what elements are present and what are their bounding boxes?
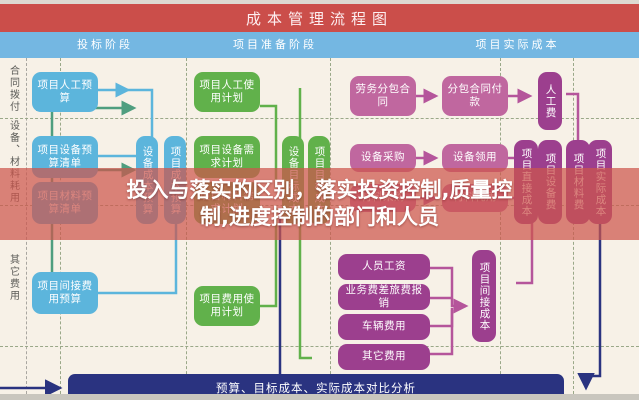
phase-header-bidding: 投标阶段 (30, 32, 180, 58)
bottom-edge-strip (0, 394, 639, 400)
node-plan-expense[interactable]: 项目费用使用计划 (194, 286, 260, 326)
phase-header-preparation: 项目准备阶段 (190, 32, 360, 58)
node-labor-subcontract[interactable]: 劳务分包合同 (350, 76, 416, 116)
node-subcontract-payment[interactable]: 分包合同付款 (442, 76, 508, 116)
node-budget-labor[interactable]: 项目人工预算 (32, 72, 98, 112)
page-title: 成本管理流程图 (0, 4, 639, 32)
overlay-caption: 投入与落实的区别，落实投资控制,质量控 制,进度控制的部门和人员 (20, 177, 620, 232)
node-other-expense[interactable]: 其它费用 (338, 344, 430, 370)
node-travel-expense[interactable]: 业务费差旅费报销 (338, 284, 430, 310)
phase-header-actual-cost: 项目实际成本 (430, 32, 605, 58)
overlay-line-2: 制,进度控制的部门和人员 (200, 205, 439, 229)
flowchart-page: 成本管理流程图 投标阶段 项目准备阶段 项目实际成本 合同拨付 设备、材料耗用 … (0, 0, 639, 400)
phase-header-bar: 投标阶段 项目准备阶段 项目实际成本 (0, 32, 639, 58)
node-budget-indirect[interactable]: 项目间接费用预算 (32, 272, 98, 314)
node-plan-labor[interactable]: 项目人工使用计划 (194, 72, 260, 112)
node-vehicle-expense[interactable]: 车辆费用 (338, 314, 430, 340)
node-cost-indirect[interactable]: 项目间接成本 (472, 250, 496, 342)
overlay-line-1: 投入与落实的区别，落实投资控制,质量控 (127, 178, 513, 202)
overlay-banner: 投入与落实的区别，落实投资控制,质量控 制,进度控制的部门和人员 (0, 168, 639, 240)
node-cost-labor[interactable]: 人工费 (538, 72, 562, 130)
node-staff-salary[interactable]: 人员工资 (338, 254, 430, 280)
